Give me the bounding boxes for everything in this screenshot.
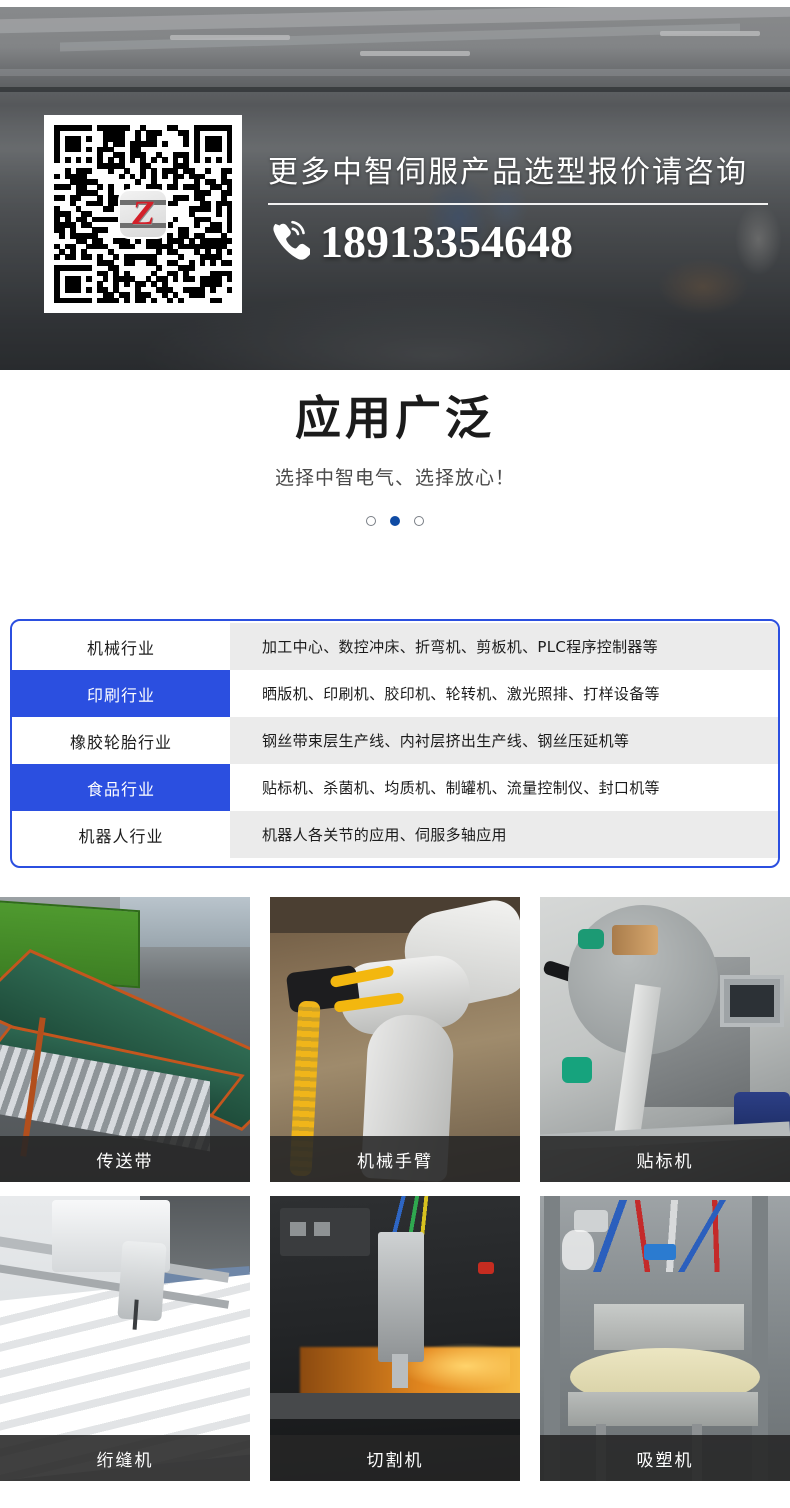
hero-divider (268, 203, 768, 205)
industry-name-cell: 食品行业 (12, 764, 230, 811)
industry-applications-cell: 钢丝带束层生产线、内衬层挤出生产线、钢丝压延机等 (230, 717, 778, 764)
carousel-dot-3[interactable] (414, 516, 424, 526)
gallery-card[interactable]: 切割机 (270, 1196, 520, 1481)
hero-banner: Z 更多中智伺服产品选型报价请咨询 18913354648 (0, 7, 790, 370)
table-row: 机器人行业机器人各关节的应用、伺服多轴应用 (12, 811, 778, 858)
gallery-card-caption: 吸塑机 (540, 1435, 790, 1481)
gallery-card-caption: 贴标机 (540, 1136, 790, 1182)
gallery-row: 传送带机械手臂贴标机 (0, 897, 790, 1182)
application-gallery: 传送带机械手臂贴标机绗缝机切割机吸塑机 (0, 897, 790, 1495)
table-row: 机械行业加工中心、数控冲床、折弯机、剪板机、PLC程序控制器等 (12, 623, 778, 670)
gallery-card-caption: 绗缝机 (0, 1435, 250, 1481)
section-title: 应用广泛 (0, 392, 790, 445)
hero-headline: 更多中智伺服产品选型报价请咨询 (268, 147, 773, 191)
page-root: Z 更多中智伺服产品选型报价请咨询 18913354648 应用广泛 选择中智电… (0, 0, 790, 1508)
gallery-card[interactable]: 绗缝机 (0, 1196, 250, 1481)
gallery-card[interactable]: 机械手臂 (270, 897, 520, 1182)
gallery-card-caption: 机械手臂 (270, 1136, 520, 1182)
carousel-dot-1[interactable] (366, 516, 376, 526)
gallery-row: 绗缝机切割机吸塑机 (0, 1196, 790, 1481)
table-row: 食品行业贴标机、杀菌机、均质机、制罐机、流量控制仪、封口机等 (12, 764, 778, 811)
industry-applications-cell: 加工中心、数控冲床、折弯机、剪板机、PLC程序控制器等 (230, 623, 778, 670)
industry-application-table: 机械行业加工中心、数控冲床、折弯机、剪板机、PLC程序控制器等印刷行业晒版机、印… (10, 619, 780, 868)
hero-phone-number: 18913354648 (320, 219, 573, 265)
table-row: 印刷行业晒版机、印刷机、胶印机、轮转机、激光照排、打样设备等 (12, 670, 778, 717)
table-row: 橡胶轮胎行业钢丝带束层生产线、内衬层挤出生产线、钢丝压延机等 (12, 717, 778, 764)
hero-phone-row[interactable]: 18913354648 (268, 219, 773, 265)
carousel-dot-2[interactable] (390, 516, 400, 526)
gallery-card[interactable]: 贴标机 (540, 897, 790, 1182)
industry-name-cell: 机器人行业 (12, 811, 230, 858)
hero-text-block: 更多中智伺服产品选型报价请咨询 18913354648 (268, 147, 773, 265)
gallery-card-caption: 传送带 (0, 1136, 250, 1182)
industry-applications-cell: 贴标机、杀菌机、均质机、制罐机、流量控制仪、封口机等 (230, 764, 778, 811)
section-header: 应用广泛 选择中智电气、选择放心！ (0, 392, 790, 526)
carousel-pagination[interactable] (0, 516, 790, 526)
gallery-card-caption: 切割机 (270, 1435, 520, 1481)
industry-name-cell: 印刷行业 (12, 670, 230, 717)
industry-name-cell: 橡胶轮胎行业 (12, 717, 230, 764)
gallery-card[interactable]: 吸塑机 (540, 1196, 790, 1481)
logo-letter: Z (129, 197, 156, 231)
section-subtitle: 选择中智电气、选择放心！ (0, 463, 790, 490)
company-logo-icon: Z (120, 191, 166, 237)
industry-applications-cell: 机器人各关节的应用、伺服多轴应用 (230, 811, 778, 858)
industry-applications-cell: 晒版机、印刷机、胶印机、轮转机、激光照排、打样设备等 (230, 670, 778, 717)
gallery-card[interactable]: 传送带 (0, 897, 250, 1182)
industry-name-cell: 机械行业 (12, 623, 230, 670)
phone-ring-icon (268, 219, 310, 265)
qr-code: Z (44, 115, 242, 313)
qr-code-image: Z (54, 125, 232, 303)
